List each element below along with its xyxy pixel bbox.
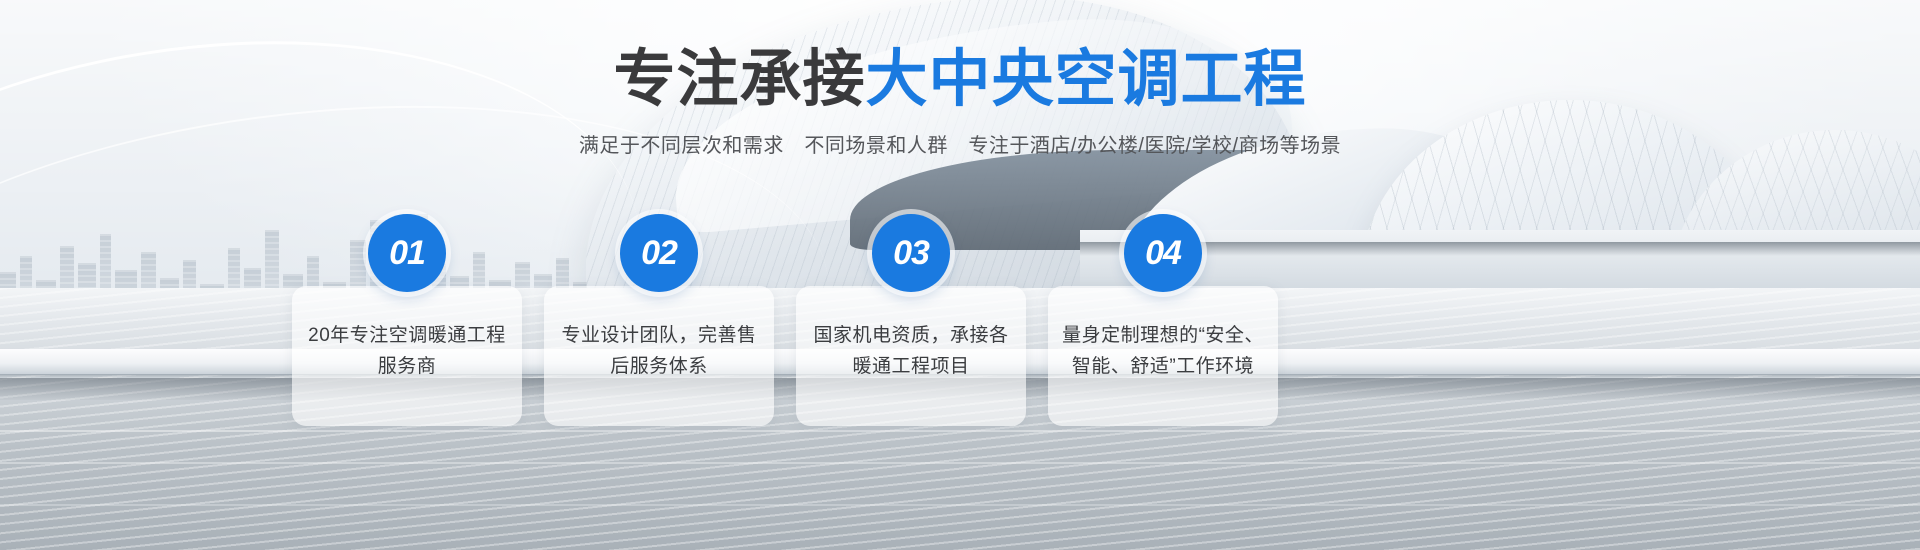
feature-badge-number: 01 [389,236,425,270]
feature-card-text: 20年专注空调暖通工程服务商 [306,320,508,382]
banner-title-dark: 专注承接 [613,45,865,114]
feature-card-text: 量身定制理想的“安全、智能、舒适”工作环境 [1062,320,1264,382]
feature-card-text: 国家机电资质，承接各暖通工程项目 [810,320,1012,382]
feature-badge-03: 03 [872,214,950,292]
hero-banner: 专注承接大中央空调工程 满足于不同层次和需求 不同场景和人群 专注于酒店/办公楼… [0,0,1920,550]
feature-card[interactable]: 01 20年专注空调暖通工程服务商 [292,286,522,426]
feature-badge-01: 01 [368,214,446,292]
feature-card[interactable]: 04 量身定制理想的“安全、智能、舒适”工作环境 [1048,286,1278,426]
banner-title-blue: 大中央空调工程 [866,45,1307,114]
feature-badge-number: 03 [893,236,929,270]
feature-card-list: 01 20年专注空调暖通工程服务商 02 专业设计团队，完善售后服务体系 03 … [292,286,1284,426]
feature-card[interactable]: 03 国家机电资质，承接各暖通工程项目 [796,286,1026,426]
feature-badge-number: 04 [1145,236,1181,270]
feature-card[interactable]: 02 专业设计团队，完善售后服务体系 [544,286,774,426]
banner-content: 专注承接大中央空调工程 满足于不同层次和需求 不同场景和人群 专注于酒店/办公楼… [0,0,1920,550]
banner-subtitle: 满足于不同层次和需求 不同场景和人群 专注于酒店/办公楼/医院/学校/商场等场景 [0,131,1920,161]
feature-badge-number: 02 [641,236,677,270]
feature-badge-02: 02 [620,214,698,292]
banner-title: 专注承接大中央空调工程 [0,44,1920,116]
feature-badge-04: 04 [1124,214,1202,292]
feature-card-text: 专业设计团队，完善售后服务体系 [558,320,760,382]
